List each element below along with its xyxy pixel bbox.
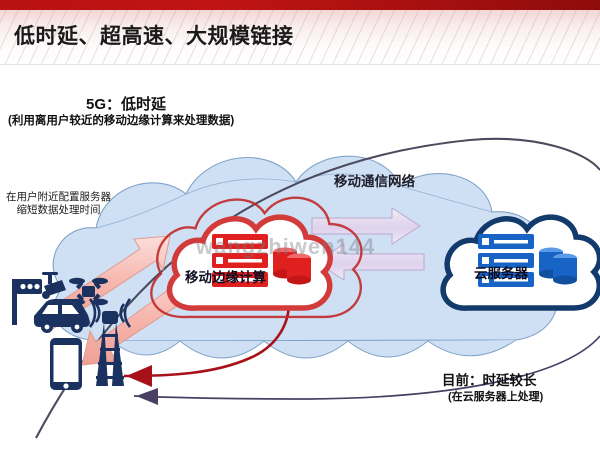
callout-5g-subtext: (利用离用户较近的移动边缘计算来处理数据): [8, 112, 234, 128]
left-note-line2: 缩短数据处理时间: [6, 204, 111, 217]
page-title: 低时延、超高速、大规模链接: [14, 20, 554, 50]
current-note-subtext: (在云服务器上处理): [448, 388, 543, 404]
callout-5g-heading: 5G：低时延: [86, 93, 166, 114]
header-divider: [0, 64, 600, 65]
mobile-network-label: 移动通信网络: [334, 170, 415, 190]
left-note: 在用户附近配置服务器 缩短数据处理时间: [6, 191, 111, 217]
top-accent-bar: [0, 0, 600, 10]
diagram-canvas: 5G：低时延 (利用离用户较近的移动边缘计算来处理数据) 在用户附近配置服务器 …: [0, 66, 600, 450]
left-note-line1: 在用户附近配置服务器: [6, 191, 111, 204]
edge-cloud-label: 移动边缘计算: [185, 266, 266, 286]
current-note-heading: 目前：时延较长: [442, 369, 537, 389]
slide-root: 低时延、超高速、大规模链接: [0, 0, 600, 450]
core-cloud-label: 云服务器: [474, 262, 528, 282]
smartphone-icon: [50, 338, 82, 390]
